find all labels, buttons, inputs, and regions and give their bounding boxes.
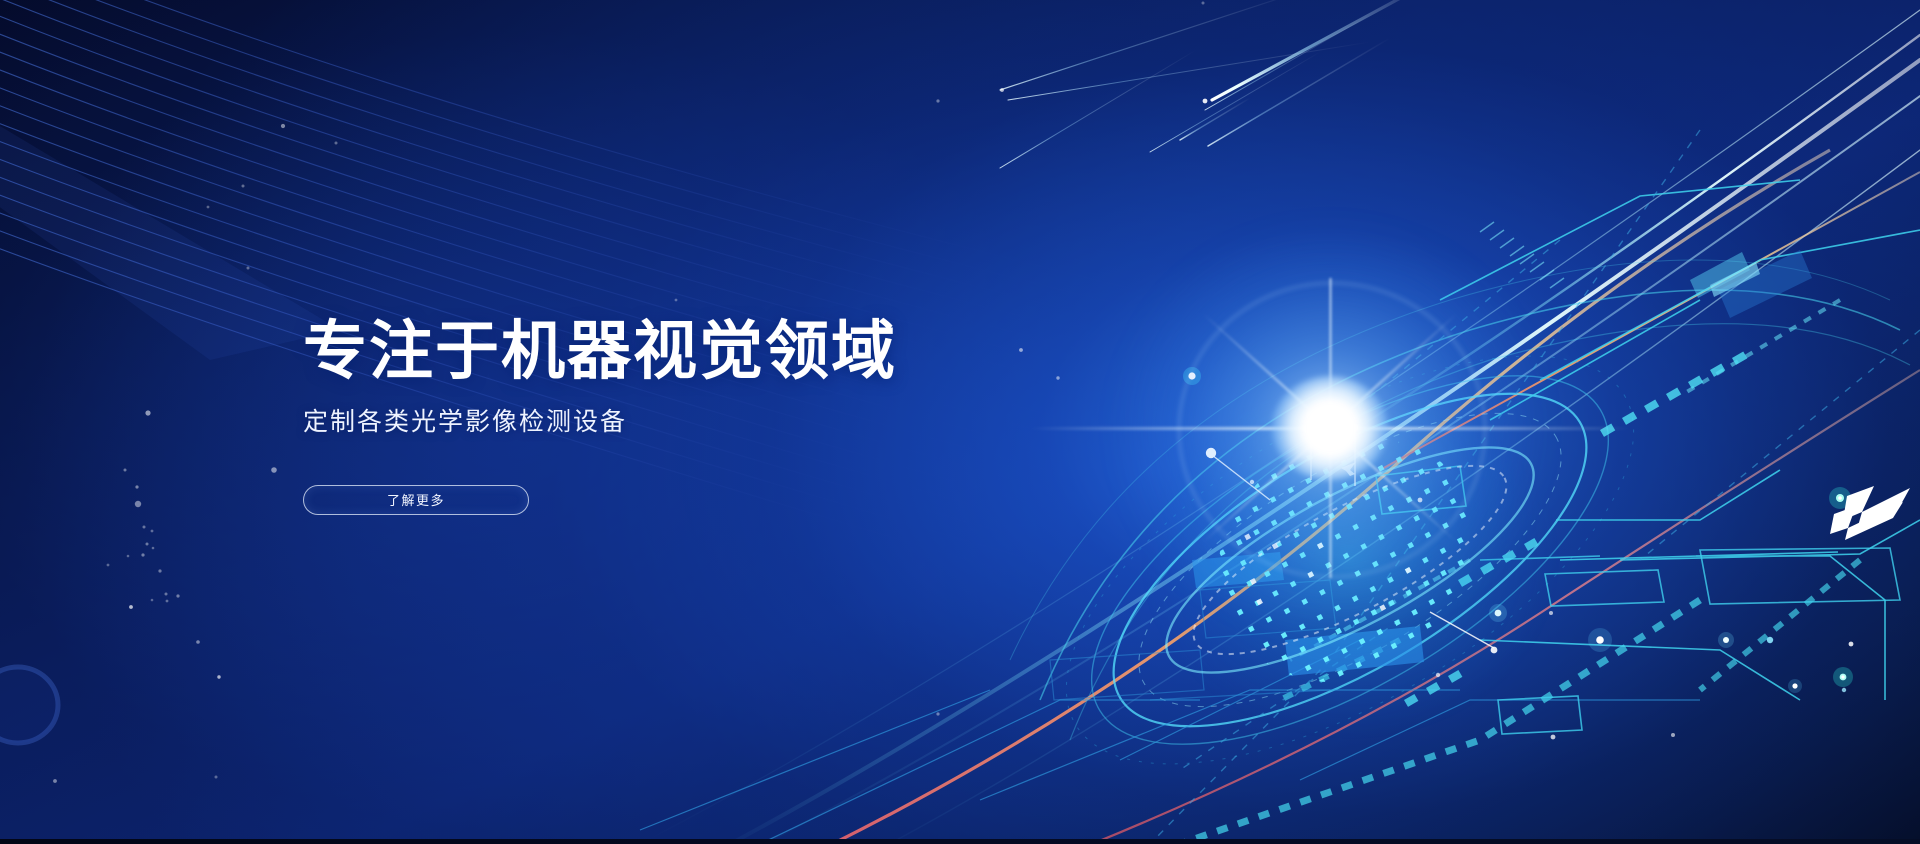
hero-content: 专注于机器视觉领域 定制各类光学影像检测设备 了解更多 [303,318,1063,515]
page-title: 专注于机器视觉领域 [303,318,1063,385]
flare-core [1272,376,1388,480]
learn-more-button[interactable]: 了解更多 [303,485,529,515]
hero-subtitle: 定制各类光学影像检测设备 [303,407,1063,437]
hero-banner: 专注于机器视觉领域 定制各类光学影像检测设备 了解更多 [0,0,1920,844]
bottom-edge-strip [0,839,1920,844]
